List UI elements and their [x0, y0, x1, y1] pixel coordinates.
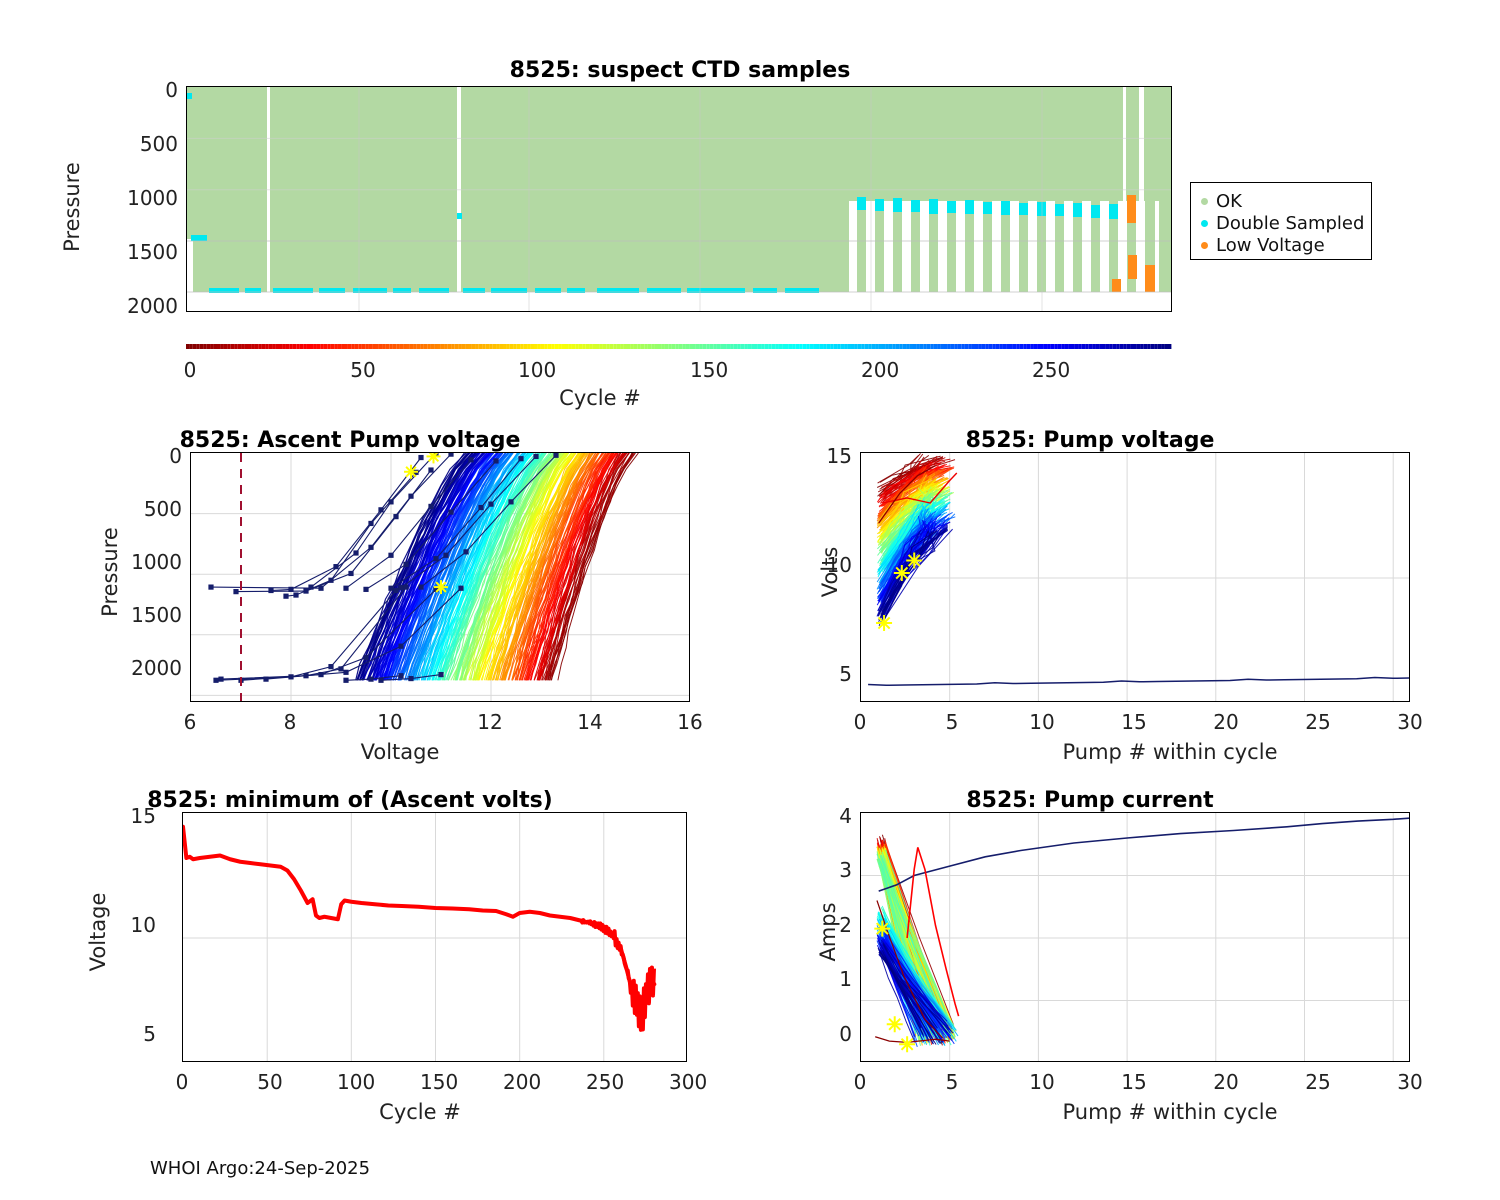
xtick-min-100: 100: [337, 1070, 375, 1094]
xtick-min-200: 200: [503, 1070, 541, 1094]
legend-swatch-low-voltage: [1201, 242, 1208, 249]
ytick-ascent-500: 500: [110, 497, 182, 521]
footer-credit: WHOI Argo:24-Sep-2025: [150, 1158, 370, 1179]
xtick-top-200: 200: [861, 358, 899, 382]
ytick-min-15: 15: [104, 804, 156, 828]
legend-suspect-ctd: OK Double Sampled Low Voltage: [1190, 182, 1372, 260]
colorbar-svg: [186, 340, 1172, 352]
ytick-pv-10: 10: [800, 553, 852, 577]
xtick-min-0: 0: [170, 1070, 194, 1094]
plot-area-pump-current: [860, 812, 1410, 1062]
xtick-ascent-10: 10: [373, 710, 407, 734]
ytick-pc-1: 1: [804, 967, 852, 991]
xtick-top-150: 150: [690, 358, 728, 382]
ytick-ascent-0: 0: [110, 444, 182, 468]
ytick-ascent-2000: 2000: [110, 656, 182, 680]
panel-suspect-ctd-samples: 8525: suspect CTD samples Pressure 0 500…: [0, 0, 1500, 400]
legend-label-double-sampled: Double Sampled: [1216, 213, 1364, 234]
panel-title-ascent-pump-voltage: 8525: Ascent Pump voltage: [0, 428, 700, 453]
suspect-ctd-svg: [187, 87, 1172, 312]
xtick-pv-20: 20: [1209, 710, 1243, 734]
legend-item-ok: OK: [1201, 191, 1242, 212]
ytick-pc-4: 4: [804, 804, 852, 828]
legend-label-low-voltage: Low Voltage: [1216, 235, 1325, 256]
xtick-ascent-8: 8: [278, 710, 302, 734]
ytick-min-5: 5: [104, 1022, 156, 1046]
ytick-top-500: 500: [100, 132, 178, 156]
xtick-ascent-16: 16: [673, 710, 707, 734]
ytick-top-2000: 2000: [100, 294, 178, 318]
xtick-ascent-14: 14: [573, 710, 607, 734]
ytick-top-1500: 1500: [100, 240, 178, 264]
plot-area-ascent-pump-voltage: [190, 452, 690, 702]
panel-pump-voltage: 8525: Pump voltage Volts 15 10 5 0 5 10 …: [740, 410, 1500, 770]
xtick-pv-10: 10: [1025, 710, 1059, 734]
ytick-pc-2: 2: [804, 913, 852, 937]
pump-current-rising-curve: [879, 818, 1410, 891]
xtick-pc-0: 0: [848, 1070, 872, 1094]
xtick-min-150: 150: [420, 1070, 458, 1094]
pump-current-svg: [861, 813, 1410, 1062]
xtick-pc-20: 20: [1209, 1070, 1243, 1094]
xtick-pv-0: 0: [848, 710, 872, 734]
panel-pump-current: 8525: Pump current Amps 4 3 2 1 0 0 5 10…: [740, 770, 1500, 1130]
panel-minimum-ascent-volts: 8525: minimum of (Ascent volts) Voltage …: [0, 770, 740, 1130]
plot-area-pump-voltage: [860, 452, 1410, 702]
axis-label-pressure-top: Pressure: [60, 127, 84, 287]
panel-title-suspect-ctd: 8525: suspect CTD samples: [0, 58, 1360, 83]
xtick-pc-5: 5: [940, 1070, 964, 1094]
plot-area-suspect-ctd: [186, 86, 1172, 312]
xtick-pv-5: 5: [940, 710, 964, 734]
ytick-top-0: 0: [100, 78, 178, 102]
ytick-pc-0: 0: [804, 1022, 852, 1046]
xtick-pv-15: 15: [1117, 710, 1151, 734]
axis-label-pump-number-current: Pump # within cycle: [1020, 1100, 1320, 1124]
xtick-top-100: 100: [518, 358, 556, 382]
legend-item-low-voltage: Low Voltage: [1201, 235, 1325, 256]
xtick-ascent-6: 6: [178, 710, 202, 734]
xtick-pv-25: 25: [1301, 710, 1335, 734]
xtick-top-0: 0: [178, 358, 202, 382]
xtick-min-50: 50: [255, 1070, 285, 1094]
axis-label-cycle-min: Cycle #: [340, 1100, 500, 1124]
xtick-pc-10: 10: [1025, 1070, 1059, 1094]
xtick-top-50: 50: [348, 358, 378, 382]
xtick-ascent-12: 12: [473, 710, 507, 734]
legend-item-double-sampled: Double Sampled: [1201, 213, 1364, 234]
axis-label-cycle-top: Cycle #: [500, 386, 700, 410]
ytick-ascent-1500: 1500: [110, 603, 182, 627]
axis-label-voltage-ascent: Voltage: [340, 740, 460, 764]
ascent-pump-voltage-svg: [191, 453, 690, 702]
xtick-pc-30: 30: [1393, 1070, 1427, 1094]
xtick-pc-25: 25: [1301, 1070, 1335, 1094]
xtick-pc-15: 15: [1117, 1070, 1151, 1094]
legend-swatch-ok: [1201, 198, 1208, 205]
cycle-colorbar-strip: [186, 340, 1172, 352]
xtick-min-250: 250: [586, 1070, 624, 1094]
ytick-ascent-1000: 1000: [110, 550, 182, 574]
axis-label-pump-number-voltage: Pump # within cycle: [1020, 740, 1320, 764]
xtick-pv-30: 30: [1393, 710, 1427, 734]
ytick-pc-3: 3: [804, 858, 852, 882]
legend-label-ok: OK: [1216, 191, 1242, 212]
panel-ascent-pump-voltage: 8525: Ascent Pump voltage Pressure 0 500…: [0, 410, 740, 770]
xtick-min-300: 300: [669, 1070, 707, 1094]
ytick-min-10: 10: [104, 913, 156, 937]
plot-area-minimum-ascent-volts: [182, 812, 687, 1062]
xtick-top-250: 250: [1032, 358, 1070, 382]
pump-voltage-svg: [861, 453, 1410, 702]
ytick-top-1000: 1000: [100, 186, 178, 210]
legend-swatch-double-sampled: [1201, 220, 1208, 227]
ytick-pv-15: 15: [800, 444, 852, 468]
minimum-ascent-volts-svg: [183, 813, 687, 1062]
ytick-pv-5: 5: [800, 662, 852, 686]
